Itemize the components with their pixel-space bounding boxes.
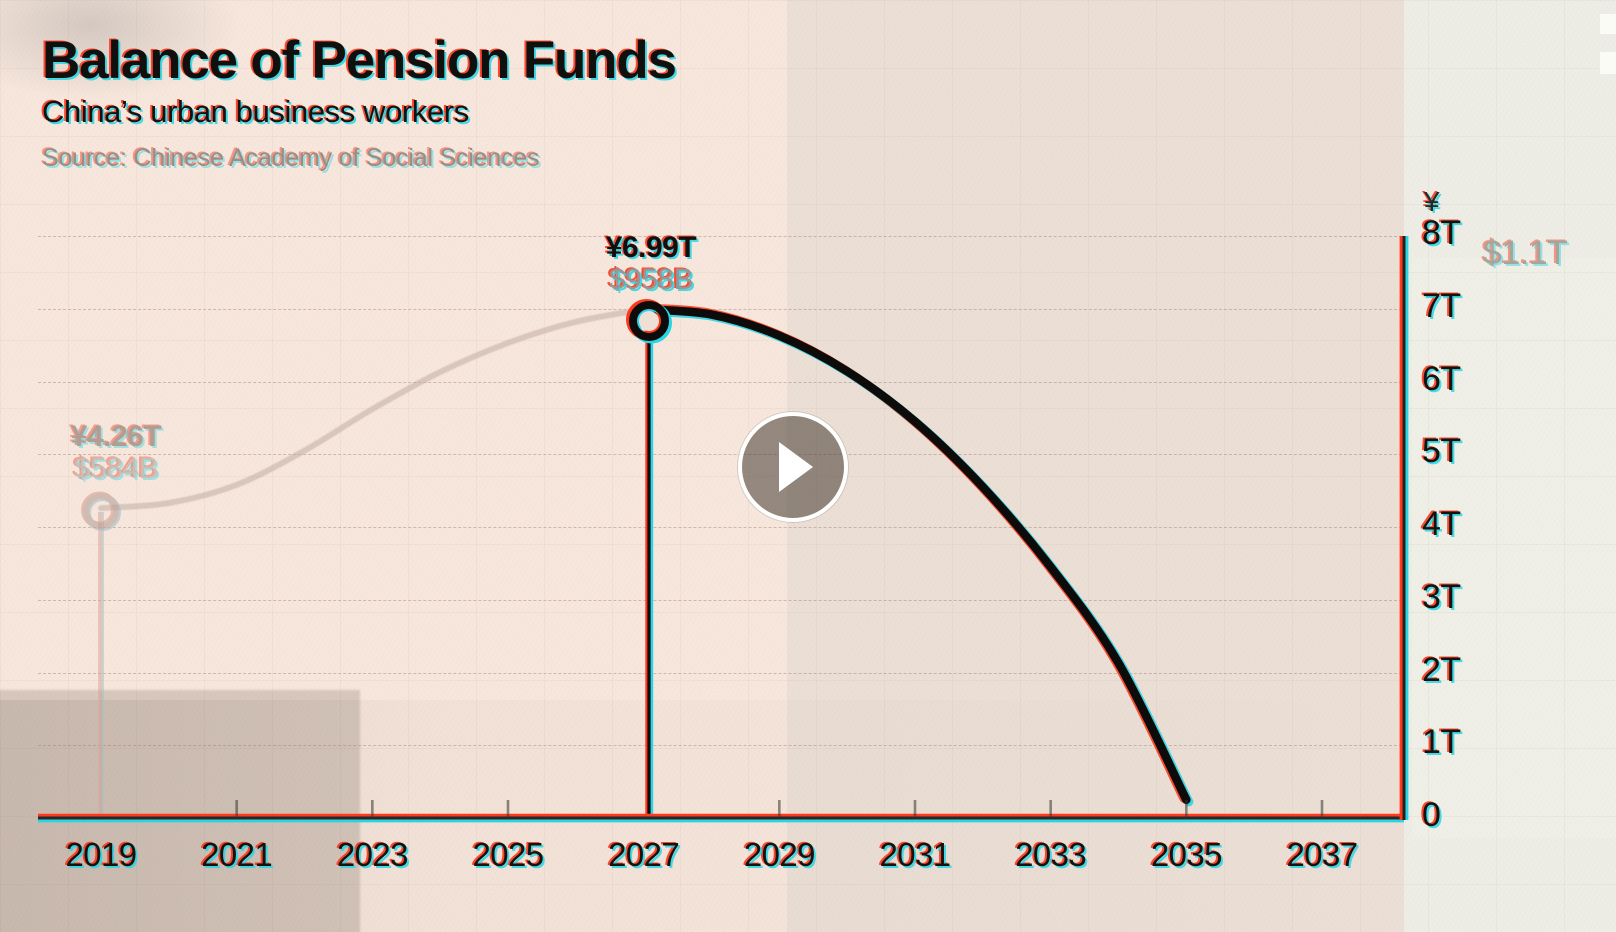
y-axis-tick-8T: 8T bbox=[1422, 214, 1461, 253]
x-axis-tick-2033: 2033 bbox=[1015, 836, 1086, 874]
x-axis-tick-2037: 2037 bbox=[1286, 836, 1357, 874]
x-axis-tick-2021: 2021 bbox=[201, 836, 272, 874]
title-text: Balance of Pension Funds bbox=[42, 34, 676, 89]
annotation-peak-yuan: ¥6.99T bbox=[545, 232, 757, 264]
source-text: Source: Chinese Academy of Social Scienc… bbox=[42, 144, 539, 173]
edge-notch-bottom bbox=[1600, 52, 1616, 74]
play-triangle-icon bbox=[779, 442, 813, 492]
edge-notch-top bbox=[1600, 14, 1616, 34]
x-axis-tick-2035: 2035 bbox=[1151, 836, 1222, 874]
source-credit: Source: Chinese Academy of Social Scienc… bbox=[42, 144, 676, 173]
subtitle-text: China’s urban business workers bbox=[42, 94, 469, 130]
page-title: Balance of Pension Funds bbox=[42, 34, 676, 89]
x-axis-tick-2027: 2027 bbox=[608, 836, 679, 874]
x-axis-tick-2029: 2029 bbox=[744, 836, 815, 874]
y-axis-tick-5T: 5T bbox=[1422, 432, 1461, 471]
peak-drop-line bbox=[647, 322, 652, 820]
y-axis-tick-0: 0 bbox=[1422, 796, 1440, 835]
annotation-peak: ¥6.99T $958B bbox=[545, 232, 757, 296]
start-drop-line bbox=[100, 512, 103, 820]
y-axis-tick-3T: 3T bbox=[1422, 578, 1461, 617]
y-axis-tick-2T: 2T bbox=[1422, 651, 1461, 690]
data-point-marker-peak bbox=[631, 304, 668, 340]
x-axis-tick-2023: 2023 bbox=[337, 836, 408, 874]
data-point-marker-start bbox=[85, 495, 118, 528]
x-axis-tick-2025: 2025 bbox=[472, 836, 543, 874]
annotation-start-yuan: ¥4.26T bbox=[10, 421, 222, 453]
y-axis-tick-6T: 6T bbox=[1422, 360, 1461, 399]
annotation-start: ¥4.26T $584B bbox=[10, 421, 222, 485]
y-axis-usd-top-label: $1.1T bbox=[1483, 234, 1567, 273]
y-axis-line bbox=[1401, 236, 1406, 820]
play-button[interactable] bbox=[738, 412, 848, 522]
annotation-peak-usd: $958B bbox=[545, 264, 757, 296]
y-axis-tick-1T: 1T bbox=[1422, 723, 1461, 762]
page-subtitle: China’s urban business workers bbox=[42, 94, 676, 130]
x-axis-tick-2019: 2019 bbox=[65, 836, 136, 874]
x-axis-line bbox=[38, 816, 1404, 821]
y-axis-tick-7T: 7T bbox=[1422, 287, 1461, 326]
line-projection bbox=[641, 308, 1189, 802]
chart-header: Balance of Pension Funds China’s urban b… bbox=[42, 34, 676, 173]
x-axis-tick-2031: 2031 bbox=[879, 836, 950, 874]
y-axis-tick-4T: 4T bbox=[1422, 505, 1461, 544]
chart-screenshot: Balance of Pension Funds China’s urban b… bbox=[0, 0, 1616, 932]
annotation-start-usd: $584B bbox=[10, 453, 222, 485]
